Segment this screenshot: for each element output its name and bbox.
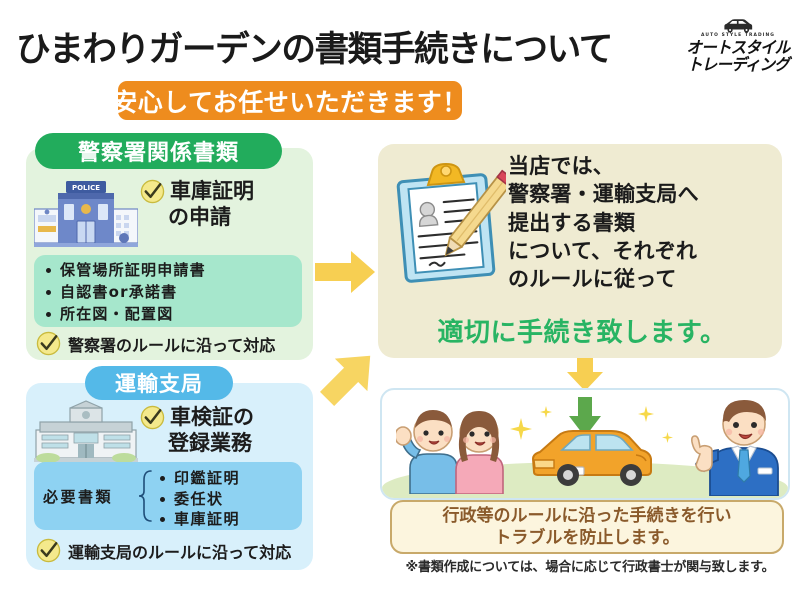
statement-text: 当店では、 警察署・運輸支局へ 提出する書類 について、それぞれ のルールに従っ… bbox=[508, 152, 778, 294]
police-footer-text: 警察署のルールに沿って対応 bbox=[68, 332, 275, 356]
scene-illustration-panel bbox=[380, 388, 790, 500]
required-documents-label: 必要書類 bbox=[43, 486, 113, 507]
list-item: 自認書or承諾書 bbox=[46, 282, 302, 304]
transport-document-list: 必要書類 印鑑証明 委任状 車庫証明 bbox=[34, 462, 302, 530]
check-badge-icon bbox=[140, 405, 165, 430]
sparkle-icon bbox=[638, 406, 654, 422]
footnote-text: ※書類作成については、場合に応じて行政書士が関与致します。 bbox=[390, 556, 790, 575]
statement-line: 警察署・運輸支局へ bbox=[508, 180, 778, 208]
statement-line: 当店では、 bbox=[508, 152, 778, 180]
arrow-down-icon bbox=[566, 352, 604, 392]
company-logo: AUTO STYLE TRADING オートスタイル トレーディング bbox=[684, 18, 792, 80]
government-building-icon bbox=[34, 400, 138, 468]
happy-couple-icon bbox=[396, 402, 516, 494]
transport-heading-line-2: 登録業務 bbox=[168, 430, 310, 456]
police-station-icon: POLICE bbox=[34, 177, 138, 249]
police-heading-line-1: 車庫証明 bbox=[170, 178, 254, 204]
sparkle-icon bbox=[540, 406, 552, 418]
arrow-right-icon bbox=[313, 246, 377, 298]
transport-heading: 車検証の 登録業務 bbox=[140, 404, 310, 457]
list-item: 所在図・配置図 bbox=[46, 304, 302, 326]
transport-heading-line-1: 車検証の bbox=[170, 404, 254, 430]
promise-line-2: トラブルを防止します。 bbox=[494, 527, 679, 549]
police-section-title: 警察署関係書類 bbox=[35, 133, 282, 169]
check-badge-icon bbox=[36, 538, 61, 563]
check-badge-icon bbox=[36, 331, 61, 356]
statement-line: のルールに従って bbox=[508, 265, 778, 293]
list-item: 保管場所証明申請書 bbox=[46, 260, 302, 282]
list-item: 車庫証明 bbox=[160, 509, 240, 530]
salesman-pointing-icon bbox=[670, 396, 782, 496]
logo-line-1: オートスタイル bbox=[687, 40, 790, 57]
arrow-up-right-icon bbox=[316, 345, 382, 409]
check-badge-icon bbox=[140, 179, 165, 204]
promise-box: 行政等のルールに沿った手続きを行い トラブルを防止します。 bbox=[390, 500, 784, 554]
infographic-page: ひまわりガーデンの書類手続きについて AUTO STYLE TRADING オー… bbox=[0, 0, 800, 600]
police-heading-line-2: の申請 bbox=[168, 204, 310, 230]
promise-line-1: 行政等のルールに沿った手続きを行い bbox=[443, 505, 732, 527]
police-footer-note: 警察署のルールに沿って対応 bbox=[36, 331, 275, 356]
transport-footer-text: 運輸支局のルールに沿って対応 bbox=[68, 539, 291, 563]
orange-car-icon bbox=[528, 426, 656, 488]
police-heading: 車庫証明 の申請 bbox=[140, 178, 310, 231]
list-item: 委任状 bbox=[160, 489, 240, 510]
police-document-list: 保管場所証明申請書 自認書or承諾書 所在図・配置図 bbox=[34, 255, 302, 327]
logo-line-2: トレーディング bbox=[687, 56, 789, 73]
subtitle-banner: 安心してお任せいただきます！ bbox=[118, 81, 462, 120]
statement-highlight: 適切に手続き致します。 bbox=[392, 312, 772, 349]
car-icon bbox=[721, 18, 755, 33]
statement-line: について、それぞれ bbox=[508, 237, 778, 265]
statement-line: 提出する書類 bbox=[508, 209, 778, 237]
transport-section-title: 運輸支局 bbox=[85, 366, 233, 400]
page-title: ひまわりガーデンの書類手続きについて bbox=[16, 20, 669, 72]
sparkle-icon bbox=[510, 418, 532, 440]
svg-text:POLICE: POLICE bbox=[72, 184, 100, 192]
clipboard-pencil-icon bbox=[396, 160, 506, 290]
transport-footer-note: 運輸支局のルールに沿って対応 bbox=[36, 538, 291, 563]
list-item: 印鑑証明 bbox=[160, 468, 240, 489]
brace-icon bbox=[138, 470, 154, 522]
